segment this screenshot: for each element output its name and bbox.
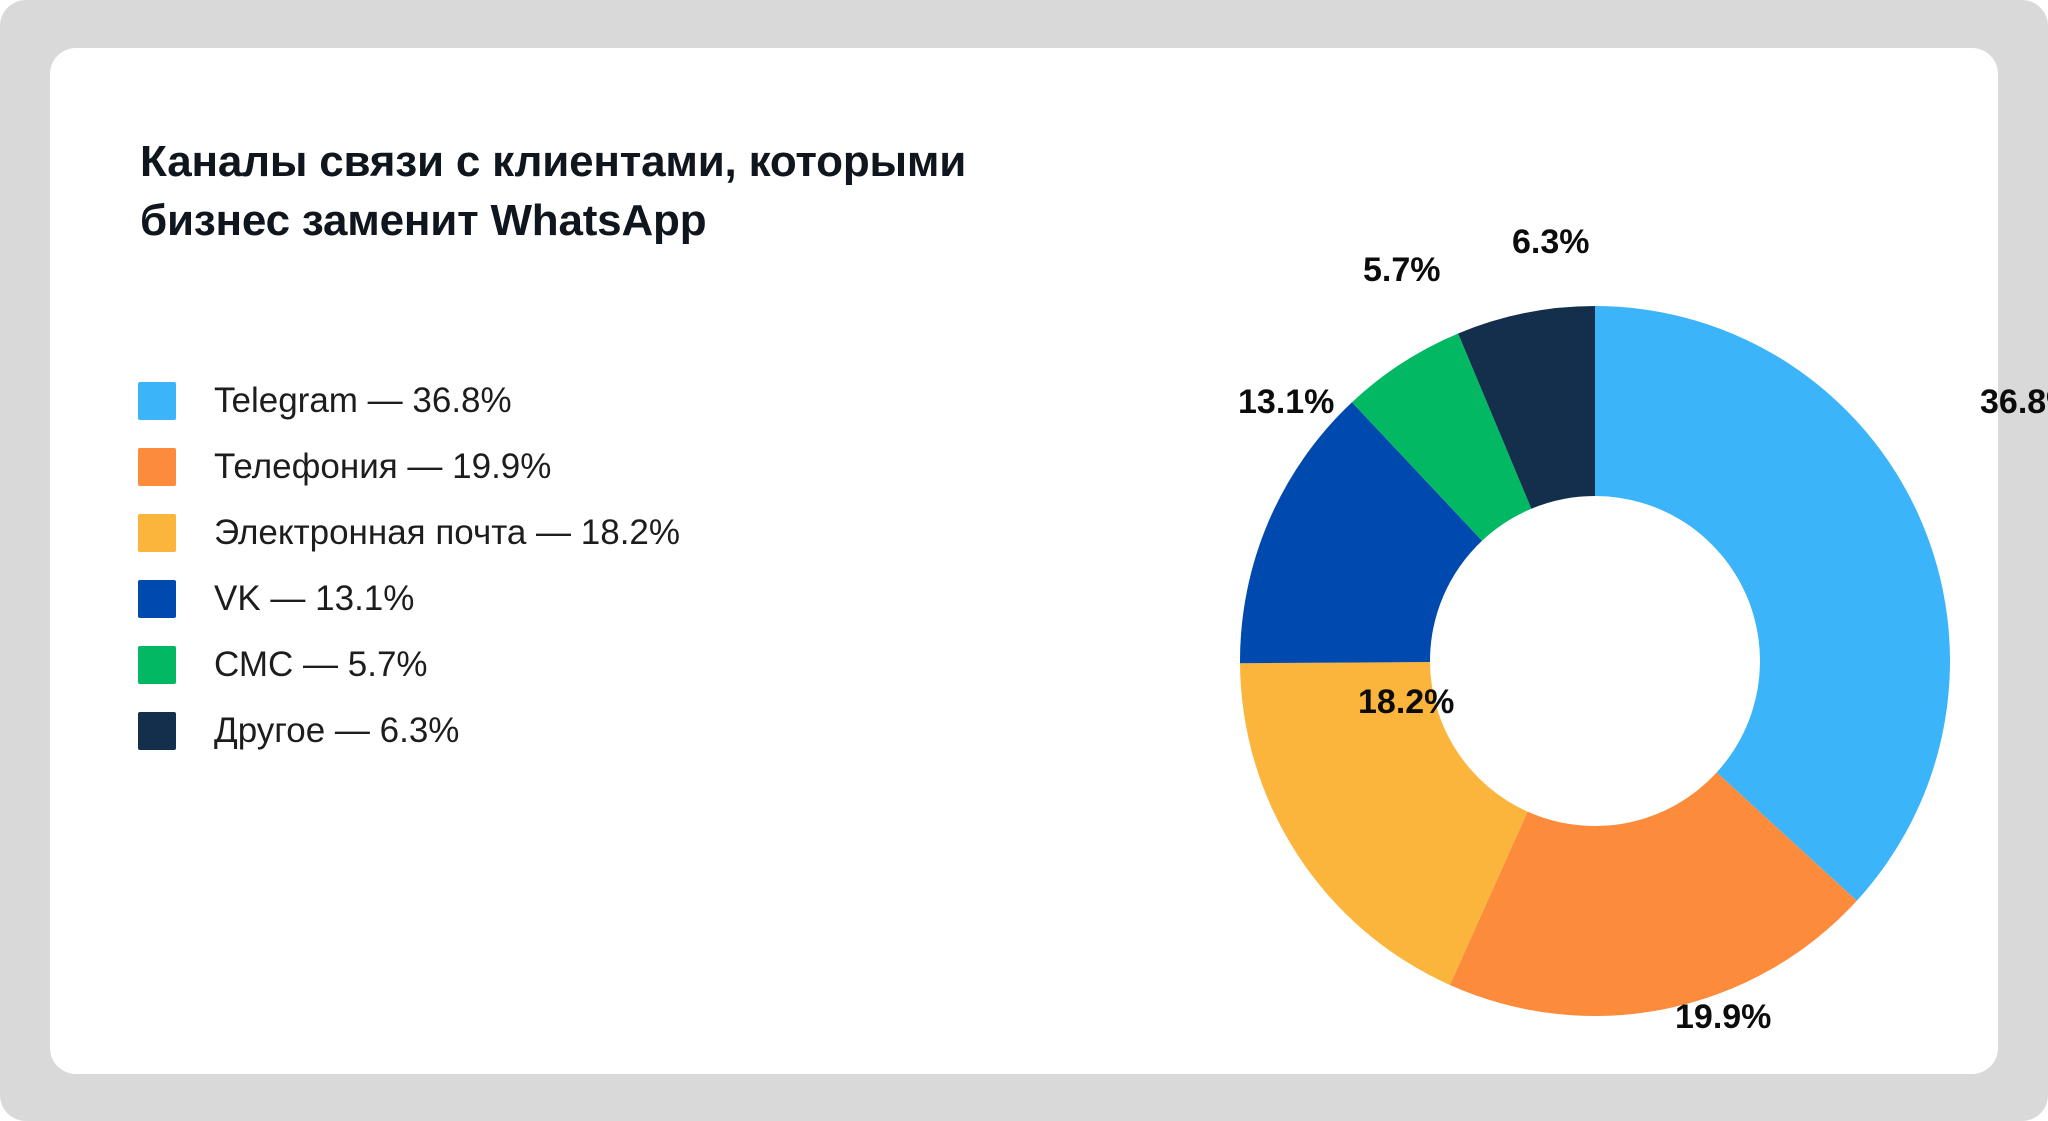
legend-item[interactable]: Электронная почта — 18.2% <box>138 500 958 566</box>
donut-value-label: 36.8% <box>1980 383 2048 421</box>
page-title: Каналы связи с клиентами, которыми бизне… <box>140 133 1200 250</box>
legend-color-swatch <box>138 646 176 684</box>
donut-chart: 36.8%19.9%18.2%13.1%5.7%6.3% <box>1190 208 2048 1068</box>
donut-slice[interactable] <box>1595 306 1950 901</box>
legend-item-label: Telegram — 36.8% <box>214 381 512 421</box>
chart-legend: Telegram — 36.8%Телефония — 19.9%Электро… <box>138 368 958 764</box>
chart-canvas: Каналы связи с клиентами, которыми бизне… <box>0 0 2048 1121</box>
legend-color-swatch <box>138 712 176 750</box>
legend-item[interactable]: Telegram — 36.8% <box>138 368 958 434</box>
legend-item-label: Другое — 6.3% <box>214 711 459 751</box>
donut-chart-svg: 36.8%19.9%18.2%13.1%5.7%6.3% <box>1190 208 2048 1068</box>
legend-item[interactable]: СМС — 5.7% <box>138 632 958 698</box>
legend-item-label: Телефония — 19.9% <box>214 447 551 487</box>
legend-item-label: СМС — 5.7% <box>214 645 428 685</box>
donut-value-label: 18.2% <box>1358 683 1454 721</box>
legend-item-label: Электронная почта — 18.2% <box>214 513 680 553</box>
donut-value-label: 5.7% <box>1363 251 1441 289</box>
legend-color-swatch <box>138 448 176 486</box>
legend-item[interactable]: Другое — 6.3% <box>138 698 958 764</box>
legend-color-swatch <box>138 382 176 420</box>
legend-color-swatch <box>138 514 176 552</box>
donut-value-label: 13.1% <box>1238 383 1334 421</box>
legend-item-label: VK — 13.1% <box>214 579 414 619</box>
donut-slice-group <box>1240 306 1950 1016</box>
donut-value-label: 6.3% <box>1512 223 1590 261</box>
legend-item[interactable]: VK — 13.1% <box>138 566 958 632</box>
legend-color-swatch <box>138 580 176 618</box>
donut-value-label: 19.9% <box>1675 998 1771 1036</box>
chart-card: Каналы связи с клиентами, которыми бизне… <box>50 48 1998 1074</box>
legend-item[interactable]: Телефония — 19.9% <box>138 434 958 500</box>
